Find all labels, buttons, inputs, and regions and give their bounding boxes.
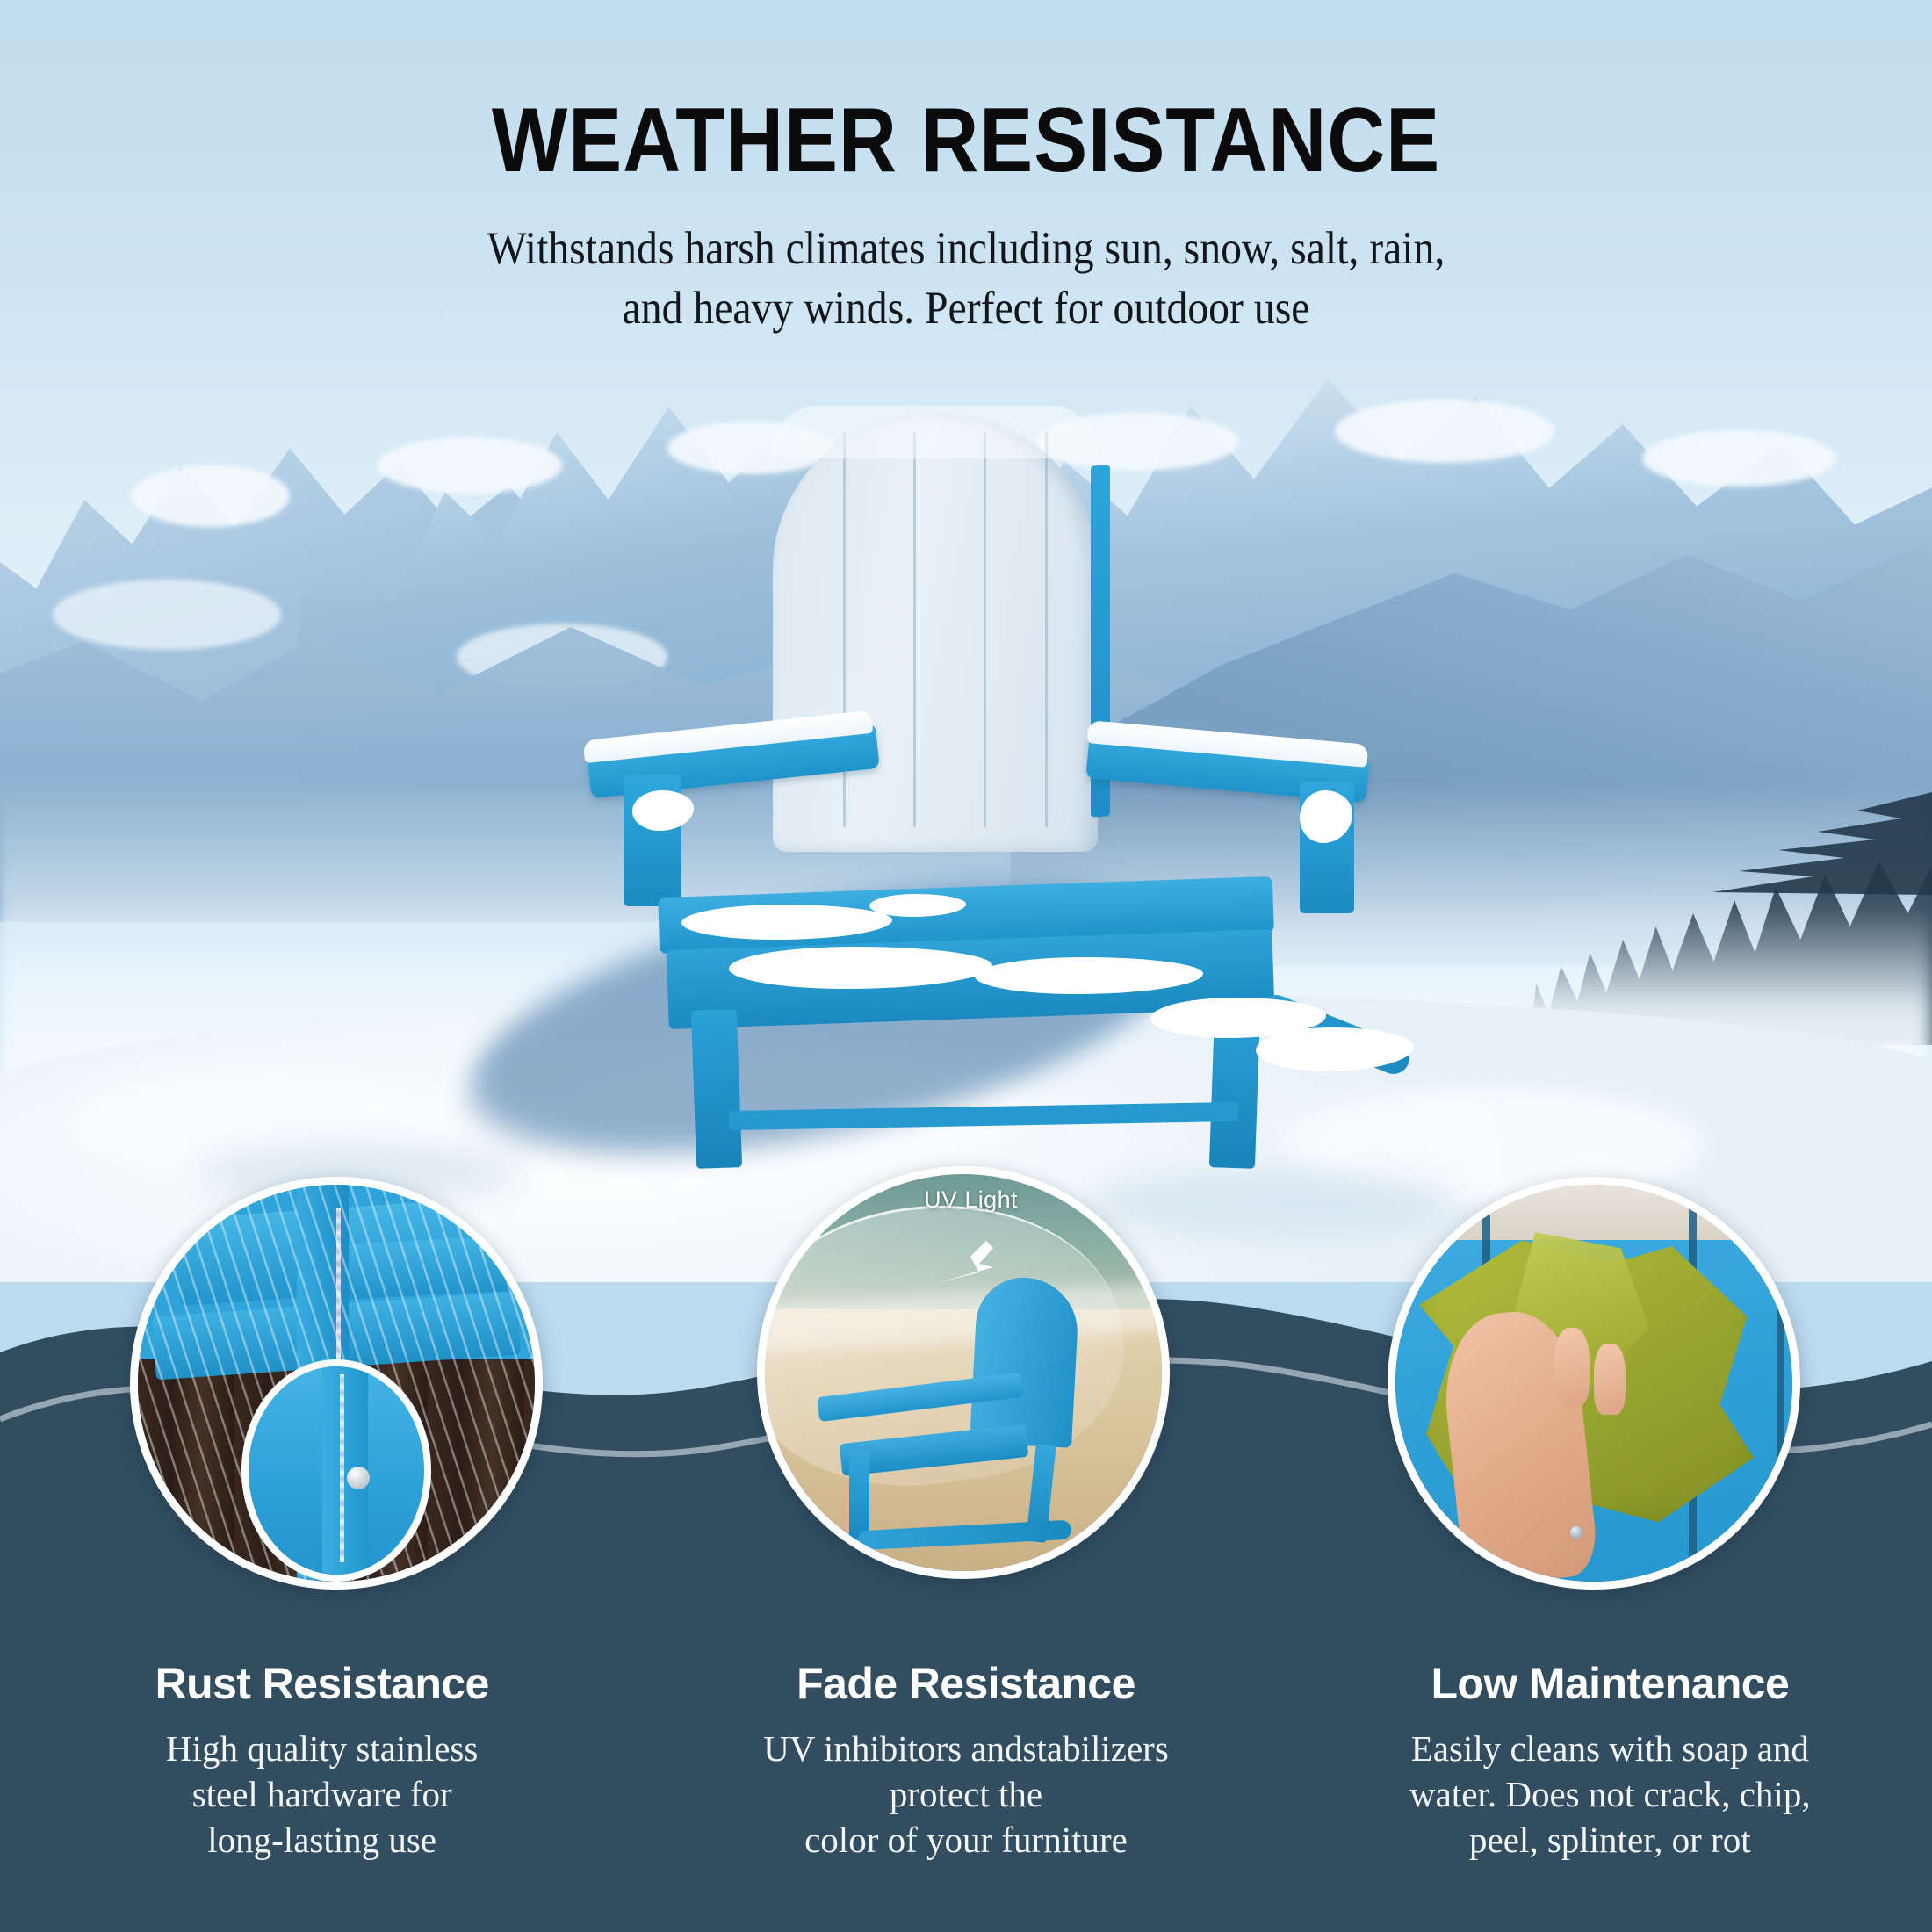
- feature-image-fade-resistance: UV Light: [757, 1166, 1170, 1579]
- feature-line-1: High quality stainless: [35, 1726, 609, 1771]
- feature-rust-resistance: Rust Resistance High quality stainless s…: [0, 1660, 644, 1863]
- feature-description: High quality stainless steel hardware fo…: [35, 1726, 609, 1863]
- subtitle-line-2: and heavy winds. Perfect for outdoor use: [97, 279, 1835, 339]
- feature-circles: UV Light: [0, 1177, 1932, 1669]
- feature-image-rust-resistance: [130, 1177, 543, 1590]
- feature-line-3: long-lasting use: [35, 1817, 609, 1863]
- feature-low-maintenance: Low Maintenance Easily cleans with soap …: [1288, 1660, 1932, 1863]
- snow-cap: [132, 465, 290, 527]
- feature-line-2: steel hardware for: [35, 1771, 609, 1817]
- feature-line-2: protect the: [679, 1771, 1252, 1817]
- feature-line-3: color of your furniture: [679, 1817, 1252, 1863]
- feature-line-1: UV inhibitors andstabilizers: [679, 1726, 1252, 1771]
- feature-description: UV inhibitors andstabilizers protect the…: [679, 1726, 1252, 1863]
- feature-line-3: peel, splinter, or rot: [1323, 1817, 1897, 1863]
- feature-title: Low Maintenance: [1323, 1660, 1897, 1708]
- chair-left-leg: [691, 1009, 742, 1169]
- page-subtitle: Withstands harsh climates including sun,…: [97, 220, 1835, 339]
- screw-head: [1570, 1526, 1582, 1539]
- snow-cap: [1642, 430, 1835, 487]
- snow-cap: [53, 580, 281, 650]
- page-title: WEATHER RESISTANCE: [116, 95, 1816, 186]
- snow-cap: [1335, 400, 1554, 463]
- feature-line-2: water. Does not crack, chip,: [1323, 1771, 1897, 1817]
- feature-title: Rust Resistance: [35, 1660, 609, 1708]
- hero-product-chair: [606, 413, 1335, 1115]
- snow-on-backrest: [771, 406, 1098, 458]
- feature-line-1: Easily cleans with soap and: [1323, 1726, 1897, 1771]
- uv-light-label: UV Light: [924, 1186, 1018, 1214]
- snow-cap: [378, 437, 562, 494]
- stainless-screw: [347, 1467, 370, 1489]
- chair-backrest: [773, 413, 1098, 852]
- snow-patch: [632, 790, 694, 831]
- feature-fade-resistance: Fade Resistance UV inhibitors andstabili…: [644, 1660, 1287, 1863]
- feature-title: Fade Resistance: [679, 1660, 1252, 1708]
- feature-text-row: Rust Resistance High quality stainless s…: [0, 1660, 1932, 1863]
- feature-image-low-maintenance: [1388, 1177, 1800, 1590]
- feature-description: Easily cleans with soap and water. Does …: [1323, 1726, 1897, 1863]
- infographic-canvas: UV Light WEATHER RES: [0, 0, 1932, 1932]
- beach-chair: [916, 1278, 1138, 1547]
- subtitle-line-1: Withstands harsh climates including sun,…: [97, 220, 1835, 279]
- header-block: WEATHER RESISTANCE Withstands harsh clim…: [0, 0, 1932, 339]
- hardware-closeup-inset: [241, 1359, 432, 1582]
